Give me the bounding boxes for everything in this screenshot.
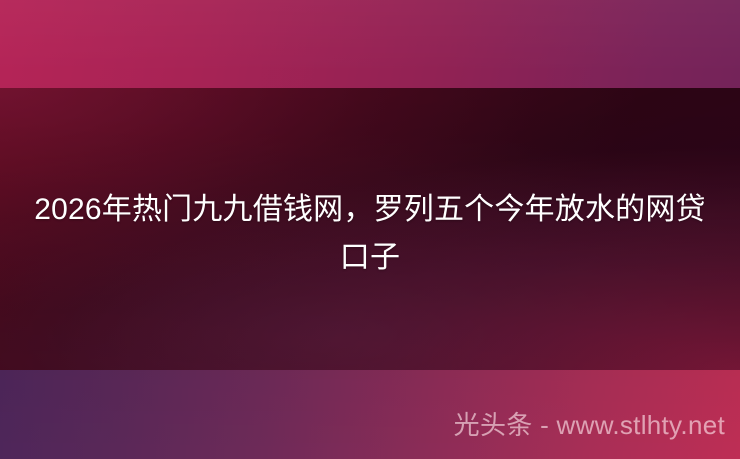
background-band-top [0, 0, 740, 88]
title-card: 2026年热门九九借钱网，罗列五个今年放水的网贷口子 光头条 - www.stl… [0, 0, 740, 459]
page-title: 2026年热门九九借钱网，罗列五个今年放水的网贷口子 [0, 186, 740, 282]
site-watermark: 光头条 - www.stlhty.net [454, 408, 725, 442]
